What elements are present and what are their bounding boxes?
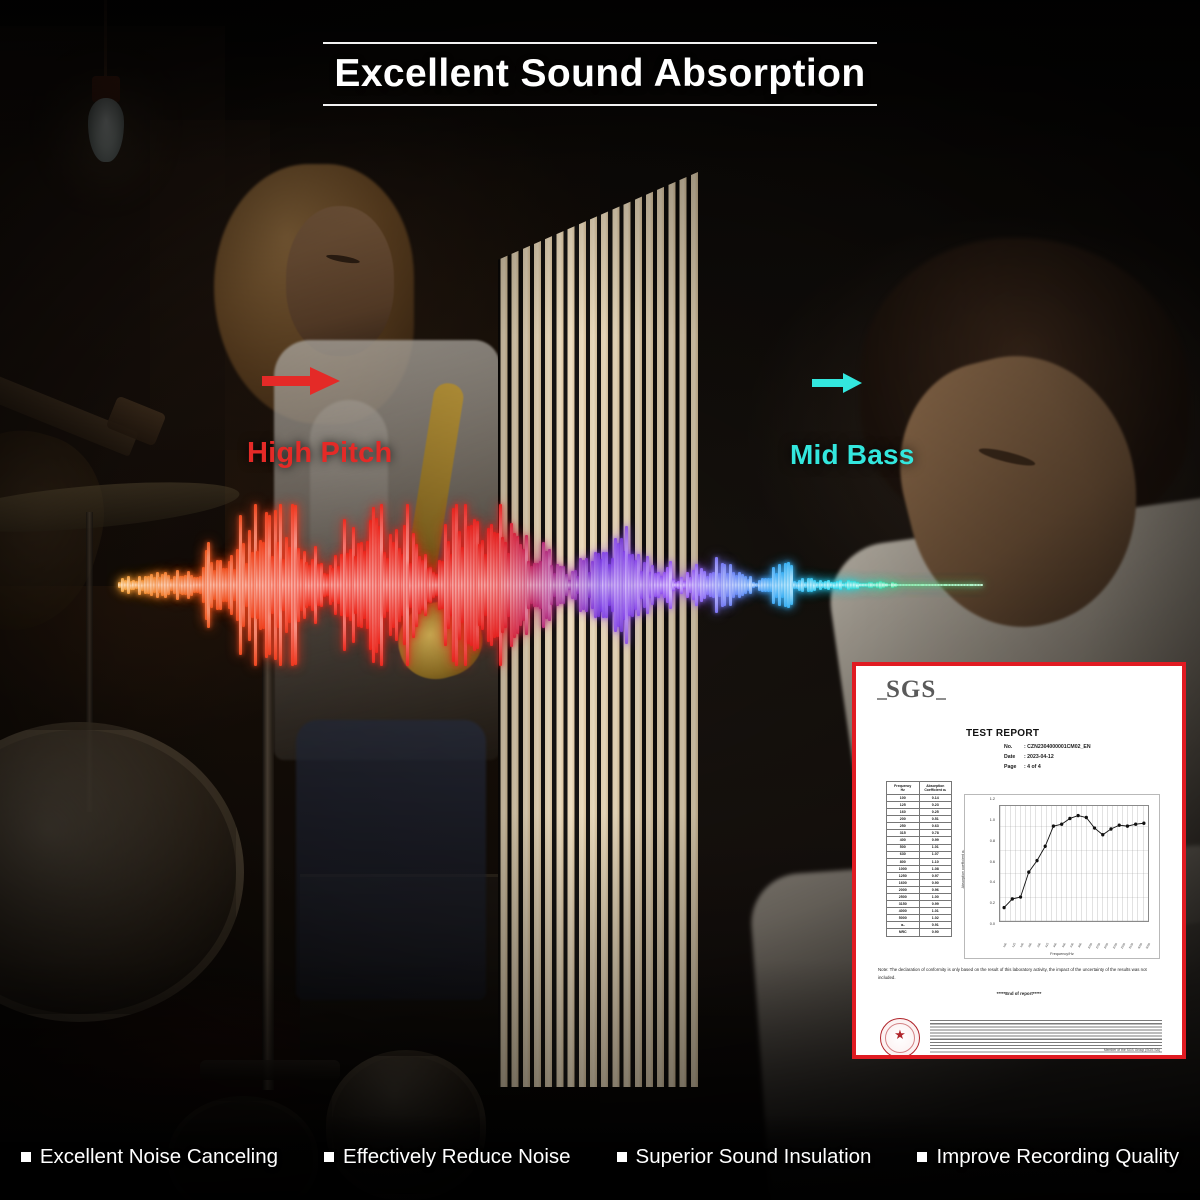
table-row: 8001.10 — [887, 858, 952, 865]
cell-frequency: 5000 — [887, 915, 920, 922]
chart-data-point — [1076, 814, 1079, 817]
chart-data-point — [1011, 897, 1014, 900]
cell-absorption: 0.63 — [919, 823, 952, 830]
feature-label: Effectively Reduce Noise — [343, 1145, 571, 1169]
chart-x-tick: 2000 — [1111, 942, 1117, 949]
chart-x-tick: 800 — [1077, 942, 1083, 948]
table-body: 1000.141250.231600.252000.512500.633150.… — [887, 795, 952, 937]
cell-frequency: 1600 — [887, 879, 920, 886]
chart-y-tick: 0.0 — [990, 922, 995, 926]
cell-absorption: 0.97 — [919, 872, 952, 879]
chart-x-tick: 125 — [1010, 942, 1016, 948]
certification-stamp-icon — [880, 1018, 920, 1058]
chart-y-tick: 1.2 — [990, 797, 995, 801]
chart-data-point — [1109, 827, 1112, 830]
chart-x-tick: 1000 — [1086, 942, 1092, 949]
chart-x-tick: 1600 — [1103, 942, 1109, 949]
product-marketing-image: High Pitch Mid Bass Excellent Sound Abso… — [0, 0, 1200, 1200]
mid-bass-label: Mid Bass — [790, 439, 915, 471]
table-row: NRC0.90 — [887, 929, 952, 936]
report-meta-key: No. — [1004, 742, 1024, 752]
bullet-square-icon — [21, 1152, 31, 1162]
report-end-marker: *****End of report***** — [856, 991, 1182, 996]
arrow-right-icon-mid-bass — [812, 372, 862, 394]
table-row: 1250.23 — [887, 802, 952, 809]
title-rule-top — [323, 42, 877, 44]
bullet-square-icon — [324, 1152, 334, 1162]
cell-absorption: 1.02 — [919, 915, 952, 922]
cell-absorption: 1.10 — [919, 858, 952, 865]
table-row: 20000.96 — [887, 887, 952, 894]
player-face — [286, 206, 394, 356]
report-meta-value: CZN2304000001CM02_EN — [1027, 744, 1090, 750]
feature-label: Superior Sound Insulation — [636, 1145, 872, 1169]
chart-data-point — [1044, 845, 1047, 848]
cell-absorption: 0.91 — [919, 922, 952, 929]
chart-x-tick: 4000 — [1136, 942, 1142, 949]
sgs-test-report-card: SGS TEST REPORT No.: CZN2304000001CM02_E… — [852, 662, 1186, 1059]
chart-data-point — [1093, 826, 1096, 829]
chart-line-series — [1000, 806, 1148, 921]
table-row: 16000.90 — [887, 879, 952, 886]
page-title-block: Excellent Sound Absorption — [323, 42, 877, 106]
cell-absorption: 1.01 — [919, 844, 952, 851]
sgs-logo: SGS — [886, 676, 936, 704]
chart-data-point — [1002, 906, 1005, 909]
bullet-square-icon — [917, 1152, 927, 1162]
table-row: 40001.01 — [887, 908, 952, 915]
report-meta-row: No.: CZN2304000001CM02_EN — [1004, 742, 1091, 752]
chart-data-point — [1101, 833, 1104, 836]
report-meta-value: 4 of 4 — [1027, 764, 1041, 770]
cell-frequency: 2500 — [887, 894, 920, 901]
chart-plot-area — [999, 805, 1149, 922]
chart-x-tick: 100 — [1002, 942, 1008, 948]
chart-x-tick: 200 — [1027, 942, 1033, 948]
chart-data-point — [1060, 822, 1063, 825]
pendant-lamp-cord — [104, 0, 107, 78]
feature-highlight-bar: Excellent Noise CancelingEffectively Red… — [0, 1114, 1200, 1200]
chart-y-tick: 0.2 — [990, 901, 995, 905]
table-row: αₓ0.91 — [887, 922, 952, 929]
cell-frequency: 250 — [887, 823, 920, 830]
bullet-square-icon — [617, 1152, 627, 1162]
chart-x-tick: 160 — [1019, 942, 1025, 948]
cell-frequency: 160 — [887, 809, 920, 816]
feature-label: Excellent Noise Canceling — [40, 1145, 278, 1169]
chart-x-tick: 250 — [1035, 942, 1041, 948]
cell-frequency: 630 — [887, 851, 920, 858]
chart-y-axis-label: Absorption coefficient αₛ — [961, 849, 965, 888]
chart-x-tick: 400 — [1052, 942, 1058, 948]
cell-absorption: 0.51 — [919, 816, 952, 823]
chart-x-tick: 5000 — [1145, 942, 1151, 949]
report-meta-key: Page — [1004, 762, 1024, 772]
chart-data-point — [1019, 895, 1022, 898]
cell-absorption: 0.96 — [919, 887, 952, 894]
cell-frequency: 315 — [887, 830, 920, 837]
feature-item: Improve Recording Quality — [917, 1145, 1179, 1169]
chart-data-point — [1052, 824, 1055, 827]
table-row: 4000.99 — [887, 837, 952, 844]
cell-absorption: 0.99 — [919, 837, 952, 844]
cell-absorption: 1.08 — [919, 865, 952, 872]
cell-frequency: 800 — [887, 858, 920, 865]
chart-data-point — [1035, 859, 1038, 862]
cell-frequency: 3150 — [887, 901, 920, 908]
report-meta-row: Date: 2023-04-12 — [1004, 752, 1091, 762]
cell-absorption: 0.78 — [919, 830, 952, 837]
report-meta-row: Page: 4 of 4 — [1004, 762, 1091, 772]
chart-x-tick: 500 — [1060, 942, 1066, 948]
stamp-inner-ring — [885, 1023, 915, 1053]
cell-absorption: 0.99 — [919, 901, 952, 908]
chart-x-tick: 1250 — [1095, 942, 1101, 949]
high-pitch-label: High Pitch — [247, 437, 392, 470]
table-row: 1000.14 — [887, 795, 952, 802]
chart-data-point — [1068, 817, 1071, 820]
table-row: 2000.51 — [887, 816, 952, 823]
page-title: Excellent Sound Absorption — [323, 53, 877, 95]
chart-y-tick: 0.8 — [990, 839, 995, 843]
chart-x-tick: 3150 — [1128, 942, 1134, 949]
arrow-right-icon-high-pitch — [262, 366, 340, 396]
chart-x-tick: 2500 — [1120, 942, 1126, 949]
chart-y-tick: 0.6 — [990, 860, 995, 864]
report-meta-value: 2023-04-12 — [1027, 754, 1054, 760]
chart-y-tick: 1.0 — [990, 818, 995, 822]
chart-y-tick-labels: 0.00.20.40.60.81.01.2 — [973, 799, 997, 924]
cell-absorption: 1.07 — [919, 851, 952, 858]
cell-frequency: 100 — [887, 795, 920, 802]
cell-frequency: 500 — [887, 844, 920, 851]
feature-item: Superior Sound Insulation — [617, 1145, 872, 1169]
player-legs — [296, 720, 486, 1000]
col-absorption-line2: Coefficient αₛ — [924, 788, 946, 792]
table-header: Frequency Hz Absorption Coefficient αₛ — [887, 782, 952, 795]
table-row: 31500.99 — [887, 901, 952, 908]
col-absorption: Absorption Coefficient αₛ — [919, 782, 952, 795]
table-row: 12500.97 — [887, 872, 952, 879]
cell-frequency: NRC — [887, 929, 920, 936]
title-rule-bottom — [323, 104, 877, 106]
cell-absorption: 0.90 — [919, 879, 952, 886]
chart-x-tick: 630 — [1069, 942, 1075, 948]
feature-label: Improve Recording Quality — [936, 1145, 1179, 1169]
chart-x-tick-labels: 1001251602002503154005006308001000125016… — [999, 924, 1149, 944]
chart-data-point — [1027, 870, 1030, 873]
chart-data-point — [1142, 822, 1145, 825]
cell-absorption: 0.90 — [919, 929, 952, 936]
cell-absorption: 0.14 — [919, 795, 952, 802]
chart-data-point — [1134, 822, 1137, 825]
cell-frequency: 1250 — [887, 872, 920, 879]
cell-absorption: 0.25 — [919, 809, 952, 816]
chart-x-axis-label: Frequency/Hz — [965, 952, 1159, 956]
chart-data-point — [1118, 823, 1121, 826]
cell-frequency: 125 — [887, 802, 920, 809]
chart-data-point — [1085, 816, 1088, 819]
cell-frequency: 1000 — [887, 865, 920, 872]
table-row: 50001.02 — [887, 915, 952, 922]
table-row: 5001.01 — [887, 844, 952, 851]
report-meta-key: Date — [1004, 752, 1024, 762]
feature-item: Effectively Reduce Noise — [324, 1145, 571, 1169]
table-row: 2500.63 — [887, 823, 952, 830]
table-header-row: Frequency Hz Absorption Coefficient αₛ — [887, 782, 952, 795]
cell-frequency: 200 — [887, 816, 920, 823]
absorption-data-table: Frequency Hz Absorption Coefficient αₛ 1… — [886, 781, 952, 937]
col-frequency: Frequency Hz — [887, 782, 920, 795]
report-header: TEST REPORT No.: CZN2304000001CM02_ENDat… — [966, 728, 1091, 772]
report-page: SGS TEST REPORT No.: CZN2304000001CM02_E… — [856, 666, 1182, 1055]
table-row: 10001.08 — [887, 865, 952, 872]
report-note: Note: The declaration of conformity is o… — [878, 966, 1164, 982]
cell-frequency: 4000 — [887, 908, 920, 915]
feature-item: Excellent Noise Canceling — [21, 1145, 278, 1169]
report-footer-note: Member of the SGS Group (SGS SA) — [1104, 1048, 1160, 1052]
cell-frequency: 400 — [887, 837, 920, 844]
report-title: TEST REPORT — [966, 728, 1091, 739]
table-row: 25001.00 — [887, 894, 952, 901]
cell-frequency: αₓ — [887, 922, 920, 929]
cell-absorption: 1.00 — [919, 894, 952, 901]
waveform-bar — [980, 584, 983, 587]
chart-series-line — [1004, 816, 1144, 908]
report-meta-list: No.: CZN2304000001CM02_ENDate: 2023-04-1… — [1004, 742, 1091, 772]
table-row: 1600.25 — [887, 809, 952, 816]
cell-absorption: 0.23 — [919, 802, 952, 809]
chart-x-tick: 315 — [1044, 942, 1050, 948]
absorption-coefficient-chart: Absorption coefficient αₛ 0.00.20.40.60.… — [964, 794, 1160, 959]
chart-data-point — [1126, 824, 1129, 827]
col-frequency-line2: Hz — [901, 788, 905, 792]
cell-absorption: 1.01 — [919, 908, 952, 915]
report-footer-text-block — [930, 1018, 1162, 1046]
microphone-stand-base — [200, 1060, 340, 1080]
chart-y-tick: 0.4 — [990, 880, 995, 884]
table-row: 6301.07 — [887, 851, 952, 858]
cell-frequency: 2000 — [887, 887, 920, 894]
table-row: 3150.78 — [887, 830, 952, 837]
